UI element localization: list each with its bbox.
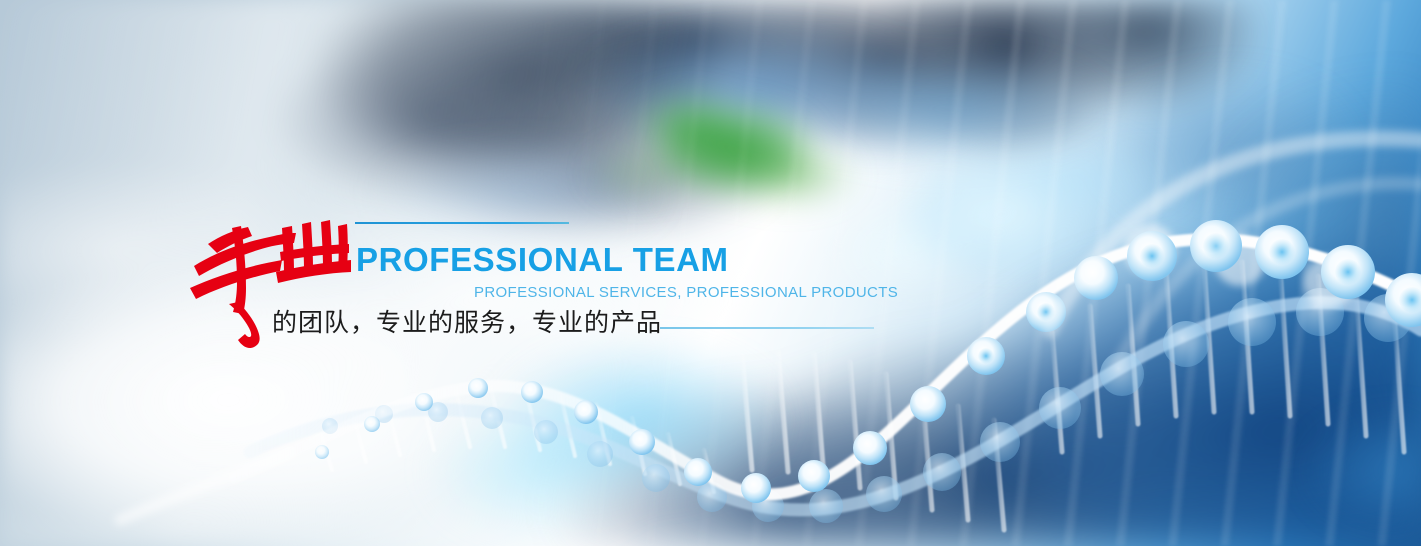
page-title: PROFESSIONAL TEAM — [356, 243, 729, 276]
bottom-divider-rule — [660, 327, 874, 329]
professional-team-banner: PROFESSIONAL TEAM PROFESSIONAL SERVICES,… — [0, 0, 1421, 546]
chinese-tagline: 的团队，专业的服务，专业的产品 — [272, 308, 662, 338]
subtitle: PROFESSIONAL SERVICES, PROFESSIONAL PROD… — [474, 285, 898, 300]
banner-text-block: PROFESSIONAL TEAM PROFESSIONAL SERVICES,… — [0, 0, 1421, 546]
top-divider-rule — [355, 222, 569, 224]
